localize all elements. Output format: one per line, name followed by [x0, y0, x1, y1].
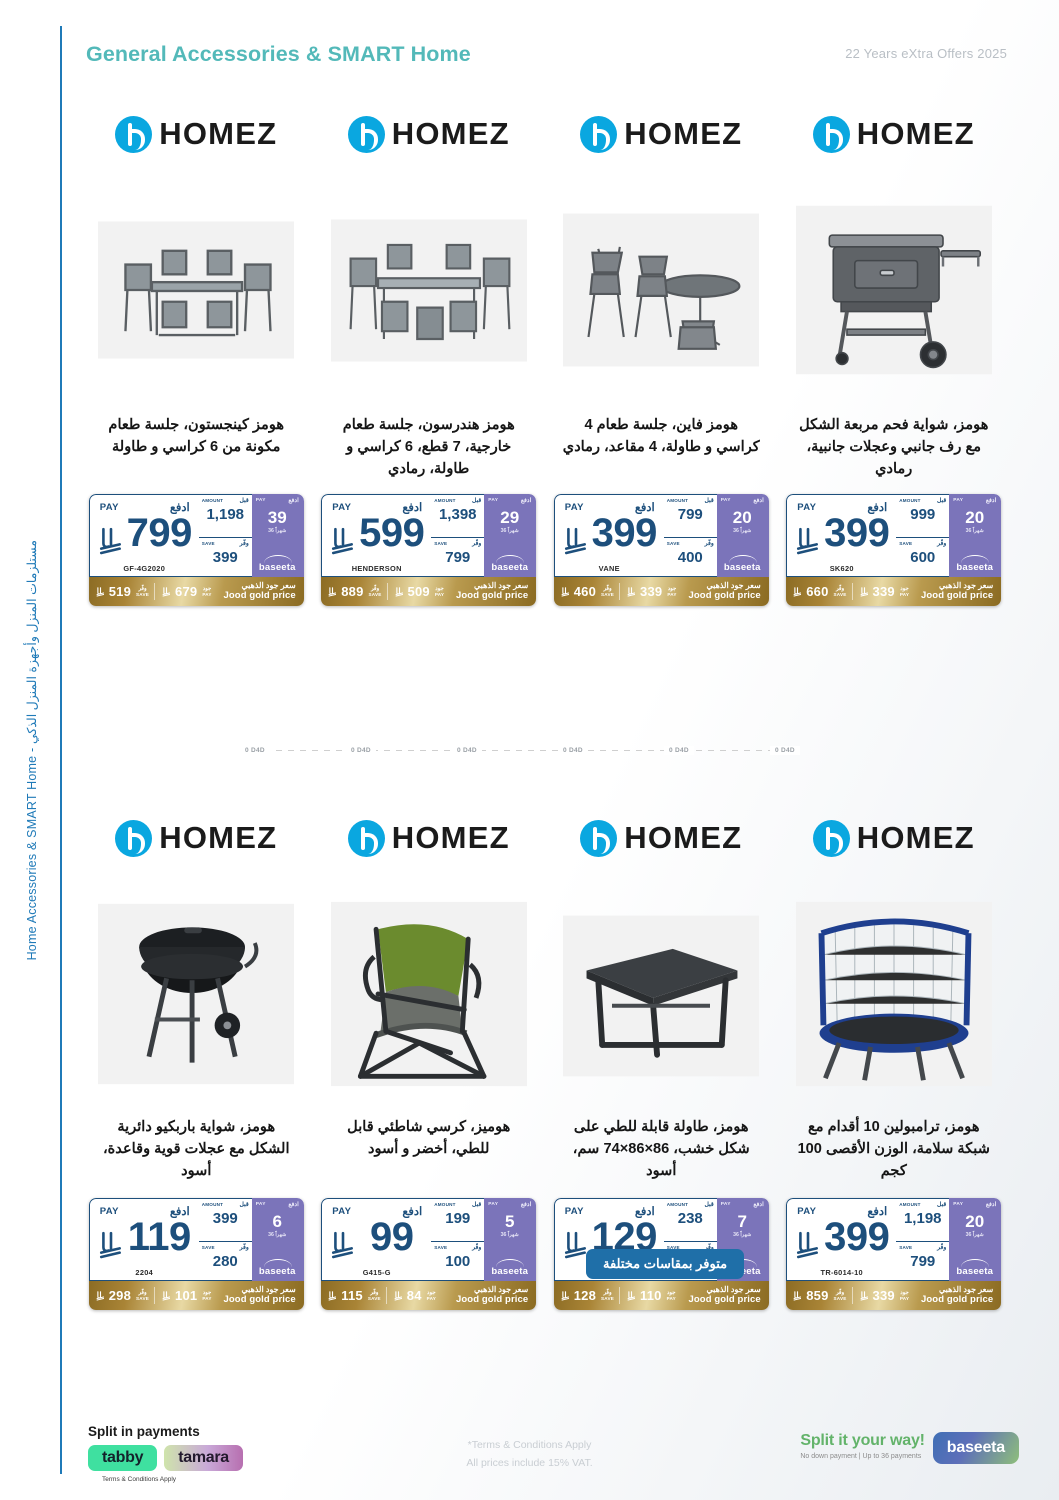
gold-title-5: سعر جود الذهبي Jood gold price: [224, 1286, 304, 1306]
brand-logo-1: HOMEZ: [80, 96, 313, 172]
brand-name: HOMEZ: [857, 820, 975, 856]
monthly-label-en: PAY: [256, 1202, 266, 1207]
brand-name: HOMEZ: [159, 116, 277, 152]
monthly-terms-3: 36 شهراً: [717, 528, 768, 534]
saudi-riyal-icon: [98, 525, 124, 555]
monthly-label-en: PAY: [721, 1202, 731, 1207]
monthly-value-5: 6: [252, 1213, 303, 1230]
pay-amount-3: 399: [589, 513, 660, 553]
gold-pay-label-2: جود PAY: [430, 586, 449, 597]
brand-logo-2: HOMEZ: [313, 96, 546, 172]
monthly-label-en: PAY: [488, 498, 498, 503]
product-card-7[interactable]: HOMEZ: [545, 800, 778, 1310]
amount-value-7: 238: [664, 1211, 717, 1226]
saudi-riyal-icon: [162, 586, 171, 597]
save-label-ar: وفّر: [472, 1244, 481, 1251]
footer-baseeta: Split it your way! No down payment | Up …: [800, 1432, 1019, 1464]
folding-table-black-art: [563, 889, 759, 1099]
model-code-4: SK620: [787, 564, 896, 573]
header-note: 22 Years eXtra Offers 2025: [845, 46, 1007, 61]
gold-save-label-8: وفّر SAVE: [829, 1290, 852, 1301]
price-card-3[interactable]: PAY ادفع 399 VANE AMOUNT: [554, 494, 769, 606]
amount-label-en: AMOUNT: [667, 1202, 688, 1207]
price-card-1[interactable]: PAY ادفع 799 GF-4G2020: [89, 494, 304, 606]
product-card-8[interactable]: HOMEZ: [778, 800, 1011, 1310]
price-secondary-1: AMOUNT قبل 1,198 SAVE وفّر 399: [199, 494, 252, 577]
monthly-value-8: 20: [949, 1213, 1000, 1230]
installment-panel-5[interactable]: PAY ادفع 6 36 شهراً baseeta: [252, 1198, 304, 1281]
model-code-3: VANE: [555, 564, 664, 573]
save-label-en: SAVE: [899, 541, 912, 546]
product-card-4[interactable]: HOMEZ: [778, 96, 1011, 606]
gold-pay-label-7: جود PAY: [662, 1290, 681, 1301]
save-label-en: SAVE: [434, 1245, 447, 1250]
coupon-tag: 0 D4D: [240, 746, 270, 755]
product-card-2[interactable]: HOMEZ: [313, 96, 546, 606]
model-code-1: GF-4G2020: [90, 564, 199, 573]
page-header: General Accessories & SMART Home: [86, 42, 471, 67]
gold-save-value-5: 298: [109, 1288, 131, 1303]
amount-value-8: 1,198: [896, 1211, 949, 1226]
amount-label-ar: قبل: [240, 1201, 249, 1208]
monthly-label-ar: ادفع: [288, 1201, 298, 1208]
price-card-2[interactable]: PAY ادفع 599 HENDERSON AM: [321, 494, 536, 606]
save-value-5: 280: [199, 1254, 252, 1269]
amount-row-7: AMOUNT قبل 238: [664, 1199, 717, 1241]
homez-circle-icon: [115, 820, 152, 857]
pay-amount-4: 399: [821, 513, 892, 553]
amount-label-en: AMOUNT: [434, 498, 455, 503]
pay-amount-6: 99: [356, 1217, 427, 1257]
product-image-7: [545, 876, 778, 1112]
product-image-5: [80, 876, 313, 1112]
pay-label-en: PAY: [100, 1206, 119, 1217]
save-label-ar: وفّر: [472, 540, 481, 547]
save-label-en: SAVE: [202, 541, 215, 546]
saudi-riyal-icon: [328, 586, 337, 597]
amount-label-ar: قبل: [937, 1201, 946, 1208]
folding-bistro-set-4-art: [563, 185, 759, 395]
monthly-value-4: 20: [949, 509, 1000, 526]
gold-save-label-2: وفّر SAVE: [364, 586, 387, 597]
gold-pay-label-6: جود PAY: [422, 1290, 441, 1301]
monthly-label-ar: ادفع: [753, 497, 763, 504]
sidebar-vertical-label: Home Accessories & SMART Home - مستلزمات…: [24, 540, 39, 960]
saudi-riyal-icon: [162, 1290, 171, 1301]
gold-save-label-6: وفّر SAVE: [363, 1290, 386, 1301]
saudi-riyal-icon: [561, 1290, 570, 1301]
saudi-riyal-icon: [328, 1290, 337, 1301]
save-value-8: 799: [896, 1254, 949, 1269]
gold-save-value-8: 859: [806, 1288, 828, 1303]
homez-circle-icon: [580, 820, 617, 857]
price-main-5: PAY ادفع 119 2204: [89, 1198, 199, 1281]
monthly-value-6: 5: [484, 1213, 535, 1230]
gold-save-label-4: وفّر SAVE: [829, 586, 852, 597]
amount-row-1: AMOUNT قبل 1,198: [199, 495, 252, 537]
gold-price-bar-5: 298 وفّر SAVE 101: [89, 1281, 304, 1310]
monthly-value-7: 7: [717, 1213, 768, 1230]
model-code-6: G415-G: [322, 1268, 431, 1277]
gold-title-7: سعر جود الذهبي Jood gold price: [689, 1286, 769, 1306]
left-rail: Home Accessories & SMART Home - مستلزمات…: [0, 0, 62, 1500]
gold-pay-value-3: 339: [640, 584, 662, 599]
gold-pay-value-1: 679: [175, 584, 197, 599]
gold-pay-value-5: 101: [175, 1288, 197, 1303]
save-value-6: 100: [431, 1254, 484, 1269]
monthly-label-ar: ادفع: [288, 497, 298, 504]
save-value-2: 799: [431, 550, 484, 565]
product-description-1: هومز كينجستون، جلسة طعام مكونة من 6 كراس…: [80, 408, 313, 494]
amount-label-en: AMOUNT: [899, 1202, 920, 1207]
amount-row-5: AMOUNT قبل 399: [199, 1199, 252, 1241]
price-secondary-5: AMOUNT قبل 399 SAVE وفّر 280: [199, 1198, 252, 1281]
pay-label-en: PAY: [332, 502, 351, 513]
gold-save-label-5: وفّر SAVE: [131, 1290, 154, 1301]
coupon-separator: 0 D4D 0 D4D 0 D4D 0 D4D 0 D4D 0 D4D: [240, 742, 800, 758]
amount-value-5: 399: [199, 1211, 252, 1226]
saudi-riyal-icon: [395, 586, 404, 597]
saudi-riyal-icon: [795, 525, 821, 555]
product-card-5[interactable]: HOMEZ: [80, 800, 313, 1310]
product-row-1: HOMEZ: [80, 96, 1010, 606]
brand-logo-8: HOMEZ: [778, 800, 1011, 876]
amount-label-en: AMOUNT: [202, 1202, 223, 1207]
amount-label-ar: قبل: [705, 1201, 714, 1208]
gold-pay-value-4: 339: [873, 584, 895, 599]
amount-label-ar: قبل: [472, 1201, 481, 1208]
saudi-riyal-icon: [795, 1229, 821, 1259]
saudi-riyal-icon: [793, 1290, 802, 1301]
coupon-tag: 0 D4D: [452, 746, 482, 755]
installment-panel-8[interactable]: PAY ادفع 20 36 شهراً baseeta: [949, 1198, 1001, 1281]
homez-circle-icon: [580, 116, 617, 153]
homez-circle-icon: [348, 116, 385, 153]
saudi-riyal-icon: [561, 586, 570, 597]
amount-row-4: AMOUNT قبل 999: [896, 495, 949, 537]
monthly-value-2: 29: [484, 509, 535, 526]
saudi-riyal-icon: [563, 525, 589, 555]
amount-label-en: AMOUNT: [667, 498, 688, 503]
amount-label-en: AMOUNT: [434, 1202, 455, 1207]
gold-pay-label-1: جود PAY: [197, 586, 216, 597]
gold-price-bar-7: 128 وفّر SAVE 110: [554, 1281, 769, 1310]
pay-label-en: PAY: [332, 1206, 351, 1217]
amount-value-6: 199: [431, 1211, 484, 1226]
monthly-terms-5: 36 شهراً: [252, 1232, 303, 1238]
save-label-ar: وفّر: [937, 1244, 946, 1251]
brand-name: HOMEZ: [392, 820, 510, 856]
homez-circle-icon: [348, 820, 385, 857]
monthly-label-en: PAY: [256, 498, 266, 503]
homez-circle-icon: [115, 116, 152, 153]
pay-amount-5: 119: [124, 1217, 195, 1257]
save-row-3: SAVE وفّر 400: [664, 537, 717, 579]
baseeta-badge[interactable]: baseeta: [933, 1432, 1019, 1464]
gold-pay-value-2: 509: [408, 584, 430, 599]
amount-label-en: AMOUNT: [202, 498, 223, 503]
price-secondary-8: AMOUNT قبل 1,198 SAVE وفّر 799: [896, 1198, 949, 1281]
monthly-terms-8: 36 شهراً: [949, 1232, 1000, 1238]
saudi-riyal-icon: [793, 586, 802, 597]
amount-label-en: AMOUNT: [899, 498, 920, 503]
save-value-4: 600: [896, 550, 949, 565]
gold-title-3: سعر جود الذهبي Jood gold price: [689, 582, 769, 602]
save-row-4: SAVE وفّر 600: [896, 537, 949, 579]
product-card-3[interactable]: HOMEZ: [545, 96, 778, 606]
price-card-5[interactable]: PAY ادفع 119 2204 AMOUNT: [89, 1198, 304, 1310]
save-row-6: SAVE وفّر 100: [431, 1241, 484, 1283]
gold-title-1: سعر جود الذهبي Jood gold price: [224, 582, 304, 602]
brand-name: HOMEZ: [624, 820, 742, 856]
monthly-label-ar: ادفع: [753, 1201, 763, 1208]
monthly-terms-6: 36 شهراً: [484, 1232, 535, 1238]
product-description-5: هومز، شواية باربكيو دائرية الشكل مع عجلا…: [80, 1112, 313, 1198]
save-label-ar: وفّر: [240, 540, 249, 547]
gold-save-label-7: وفّر SAVE: [596, 1290, 619, 1301]
product-description-8: هومز، ترامبولين 10 أقدام مع شبكة سلامة، …: [778, 1112, 1011, 1198]
price-main-1: PAY ادفع 799 GF-4G2020: [89, 494, 199, 577]
split-way-title: Split it your way!: [800, 1432, 924, 1450]
brand-logo-3: HOMEZ: [545, 96, 778, 172]
product-image-6: [313, 876, 546, 1112]
gold-price-bar-6: 115 وفّر SAVE 84: [321, 1281, 536, 1310]
trampoline-10ft-art: [796, 889, 992, 1099]
gold-pay-label-5: جود PAY: [197, 1290, 216, 1301]
model-code-2: HENDERSON: [322, 564, 431, 573]
baseeta-logo-6: baseeta: [484, 1266, 535, 1277]
amount-value-2: 1,398: [431, 507, 484, 522]
gold-price-bar-8: 859 وفّر SAVE 339: [786, 1281, 1001, 1310]
gold-pay-value-8: 339: [873, 1288, 895, 1303]
coupon-tag: 0 D4D: [770, 746, 800, 755]
gold-save-value-1: 519: [109, 584, 131, 599]
save-label-ar: وفّر: [705, 540, 714, 547]
page-title: General Accessories & SMART Home: [86, 42, 471, 67]
monthly-label-ar: ادفع: [986, 497, 996, 504]
saudi-riyal-icon: [394, 1290, 403, 1301]
brand-logo-7: HOMEZ: [545, 800, 778, 876]
saudi-riyal-icon: [860, 586, 869, 597]
price-secondary-3: AMOUNT قبل 799 SAVE وفّر 400: [664, 494, 717, 577]
pay-label-en: PAY: [100, 502, 119, 513]
monthly-value-1: 39: [252, 509, 303, 526]
price-main-4: PAY ادفع 399 SK620: [786, 494, 896, 577]
gold-pay-label-4: جود PAY: [895, 586, 914, 597]
saudi-riyal-icon: [330, 525, 356, 555]
product-description-6: هوميز، كرسي شاطئي قابل للطي، أخضر و أسود: [313, 1112, 546, 1198]
gold-save-label-1: وفّر SAVE: [131, 586, 154, 597]
product-image-3: [545, 172, 778, 408]
save-row-2: SAVE وفّر 799: [431, 537, 484, 579]
saudi-riyal-icon: [96, 1290, 105, 1301]
gold-title-6: سعر جود الذهبي Jood gold price: [456, 1286, 536, 1306]
gold-price-bar-2: 889 وفّر SAVE 509: [321, 577, 536, 606]
homez-circle-icon: [813, 820, 850, 857]
monthly-terms-4: 36 شهراً: [949, 528, 1000, 534]
amount-value-3: 799: [664, 507, 717, 522]
gold-save-value-7: 128: [574, 1288, 596, 1303]
save-value-1: 399: [199, 550, 252, 565]
brand-logo-6: HOMEZ: [313, 800, 546, 876]
gold-pay-value-6: 84: [407, 1288, 422, 1303]
catalog-page: Home Accessories & SMART Home - مستلزمات…: [0, 0, 1059, 1500]
save-label-en: SAVE: [667, 541, 680, 546]
amount-label-ar: قبل: [472, 497, 481, 504]
saudi-riyal-icon: [627, 586, 636, 597]
price-secondary-6: AMOUNT قبل 199 SAVE وفّر 100: [431, 1198, 484, 1281]
saudi-riyal-icon: [96, 586, 105, 597]
product-row-2: HOMEZ: [80, 800, 1010, 1310]
monthly-label-ar: ادفع: [521, 497, 531, 504]
amount-label-ar: قبل: [705, 497, 714, 504]
installment-panel-2[interactable]: PAY ادفع 29 36 شهراً baseeta: [484, 494, 536, 577]
price-main-8: PAY ادفع 399 TR-6014-10: [786, 1198, 896, 1281]
saudi-riyal-icon: [330, 1229, 356, 1259]
installment-panel-3[interactable]: PAY ادفع 20 36 شهراً baseeta: [717, 494, 769, 577]
baseeta-logo-4: baseeta: [949, 562, 1000, 573]
saudi-riyal-icon: [98, 1229, 124, 1259]
saudi-riyal-icon: [627, 1290, 636, 1301]
baseeta-logo-2: baseeta: [484, 562, 535, 573]
gold-price-bar-3: 460 وفّر SAVE 339: [554, 577, 769, 606]
monthly-label-en: PAY: [488, 1202, 498, 1207]
model-code-8: TR-6014-10: [787, 1268, 896, 1277]
product-image-4: [778, 172, 1011, 408]
installment-panel-4[interactable]: PAY ادفع 20 36 شهراً baseeta: [949, 494, 1001, 577]
gold-save-label-3: وفّر SAVE: [596, 586, 619, 597]
pay-amount-8: 399: [821, 1217, 892, 1257]
product-card-6[interactable]: HOMEZ: [313, 800, 546, 1310]
gold-save-value-2: 889: [341, 584, 363, 599]
monthly-label-ar: ادفع: [521, 1201, 531, 1208]
save-row-5: SAVE وفّر 280: [199, 1241, 252, 1283]
amount-value-4: 999: [896, 507, 949, 522]
price-card-6[interactable]: PAY ادفع 99 G415-G AMOUNT: [321, 1198, 536, 1310]
brand-name: HOMEZ: [392, 116, 510, 152]
coupon-tag: 0 D4D: [346, 746, 376, 755]
save-label-en: SAVE: [202, 1245, 215, 1250]
installment-panel-6[interactable]: PAY ادفع 5 36 شهراً baseeta: [484, 1198, 536, 1281]
baseeta-logo-8: baseeta: [949, 1266, 1000, 1277]
patio-dining-set-7pc-art: [331, 185, 527, 395]
gold-save-value-4: 660: [806, 584, 828, 599]
gold-price-bar-1: 519 وفّر SAVE 679: [89, 577, 304, 606]
price-main-2: PAY ادفع 599 HENDERSON: [321, 494, 431, 577]
amount-row-8: AMOUNT قبل 1,198: [896, 1199, 949, 1241]
gold-pay-value-7: 110: [640, 1288, 662, 1303]
status-badge-availability: متوفر بمقاسات مختلفة: [586, 1249, 744, 1279]
monthly-label-en: PAY: [721, 498, 731, 503]
homez-circle-icon: [813, 116, 850, 153]
pay-amount-2: 599: [356, 513, 427, 553]
gold-title-4: سعر جود الذهبي Jood gold price: [921, 582, 1001, 602]
baseeta-logo-3: baseeta: [717, 562, 768, 573]
amount-row-3: AMOUNT قبل 799: [664, 495, 717, 537]
brand-logo-4: HOMEZ: [778, 96, 1011, 172]
save-row-1: SAVE وفّر 399: [199, 537, 252, 579]
monthly-value-3: 20: [717, 509, 768, 526]
product-description-2: هومز هندرسون، جلسة طعام خارجية، 7 قطع، 6…: [313, 408, 546, 494]
amount-label-ar: قبل: [240, 497, 249, 504]
save-label-ar: وفّر: [240, 1244, 249, 1251]
price-card-4[interactable]: PAY ادفع 399 SK620 AMOUNT: [786, 494, 1001, 606]
saudi-riyal-icon: [563, 1229, 589, 1259]
amount-row-6: AMOUNT قبل 199: [431, 1199, 484, 1241]
square-charcoal-grill-cart-art: [796, 185, 992, 395]
price-card-8[interactable]: PAY ادفع 399 TR-6014-10 A: [786, 1198, 1001, 1310]
save-label-en: SAVE: [899, 1245, 912, 1250]
monthly-label-en: PAY: [953, 498, 963, 503]
save-row-8: SAVE وفّر 799: [896, 1241, 949, 1283]
coupon-tag: 0 D4D: [664, 746, 694, 755]
price-main-3: PAY ادفع 399 VANE: [554, 494, 664, 577]
gold-save-value-3: 460: [574, 584, 596, 599]
monthly-terms-2: 36 شهراً: [484, 528, 535, 534]
save-label-ar: وفّر: [937, 540, 946, 547]
folding-camping-chair-art: [331, 889, 527, 1099]
product-image-1: [80, 172, 313, 408]
model-code-5: 2204: [90, 1268, 199, 1277]
brand-logo-5: HOMEZ: [80, 800, 313, 876]
baseeta-logo-5: baseeta: [252, 1266, 303, 1277]
monthly-terms-7: 36 شهراً: [717, 1232, 768, 1238]
brand-name: HOMEZ: [159, 820, 277, 856]
product-description-3: هومز فاين، جلسة طعام 4 كراسي و طاولة، 4 …: [545, 408, 778, 494]
gold-pay-label-8: جود PAY: [895, 1290, 914, 1301]
amount-row-2: AMOUNT قبل 1,398: [431, 495, 484, 537]
baseeta-logo-1: baseeta: [252, 562, 303, 573]
split-way-sub: No down payment | Up to 36 payments: [800, 1453, 924, 1460]
rail-label-wrap: Home Accessories & SMART Home - مستلزمات…: [0, 0, 62, 1500]
pay-label-en: PAY: [797, 502, 816, 513]
amount-value-1: 1,198: [199, 507, 252, 522]
brand-name: HOMEZ: [624, 116, 742, 152]
coupon-tag: 0 D4D: [558, 746, 588, 755]
patio-dining-set-6-art: [98, 185, 294, 395]
product-card-1[interactable]: HOMEZ: [80, 96, 313, 606]
amount-label-ar: قبل: [937, 497, 946, 504]
product-image-2: [313, 172, 546, 408]
tabby-terms-note: Terms & Conditions Apply: [88, 1476, 243, 1483]
saudi-riyal-icon: [860, 1290, 869, 1301]
monthly-label-ar: ادفع: [986, 1201, 996, 1208]
price-secondary-2: AMOUNT قبل 1,398 SAVE وفّر 799: [431, 494, 484, 577]
pay-amount-1: 799: [124, 513, 195, 553]
save-label-en: SAVE: [434, 541, 447, 546]
pay-label-en: PAY: [565, 502, 584, 513]
product-description-4: هومز، شواية فحم مربعة الشكل مع رف جانبي …: [778, 408, 1011, 494]
brand-name: HOMEZ: [857, 116, 975, 152]
price-main-6: PAY ادفع 99 G415-G: [321, 1198, 431, 1281]
round-kettle-bbq-grill-art: [98, 889, 294, 1099]
monthly-label-en: PAY: [953, 1202, 963, 1207]
gold-save-value-6: 115: [341, 1288, 363, 1303]
gold-pay-label-3: جود PAY: [662, 586, 681, 597]
pay-label-en: PAY: [797, 1206, 816, 1217]
gold-title-2: سعر جود الذهبي Jood gold price: [456, 582, 536, 602]
gold-price-bar-4: 660 وفّر SAVE 339: [786, 577, 1001, 606]
installment-panel-1[interactable]: PAY ادفع 39 36 شهراً baseeta: [252, 494, 304, 577]
product-description-7: هومز، طاولة قابلة للطي على شكل خشب، 86×8…: [545, 1112, 778, 1198]
pay-label-en: PAY: [565, 1206, 584, 1217]
gold-title-8: سعر جود الذهبي Jood gold price: [921, 1286, 1001, 1306]
monthly-terms-1: 36 شهراً: [252, 528, 303, 534]
save-value-3: 400: [664, 550, 717, 565]
price-secondary-4: AMOUNT قبل 999 SAVE وفّر 600: [896, 494, 949, 577]
product-image-8: [778, 876, 1011, 1112]
